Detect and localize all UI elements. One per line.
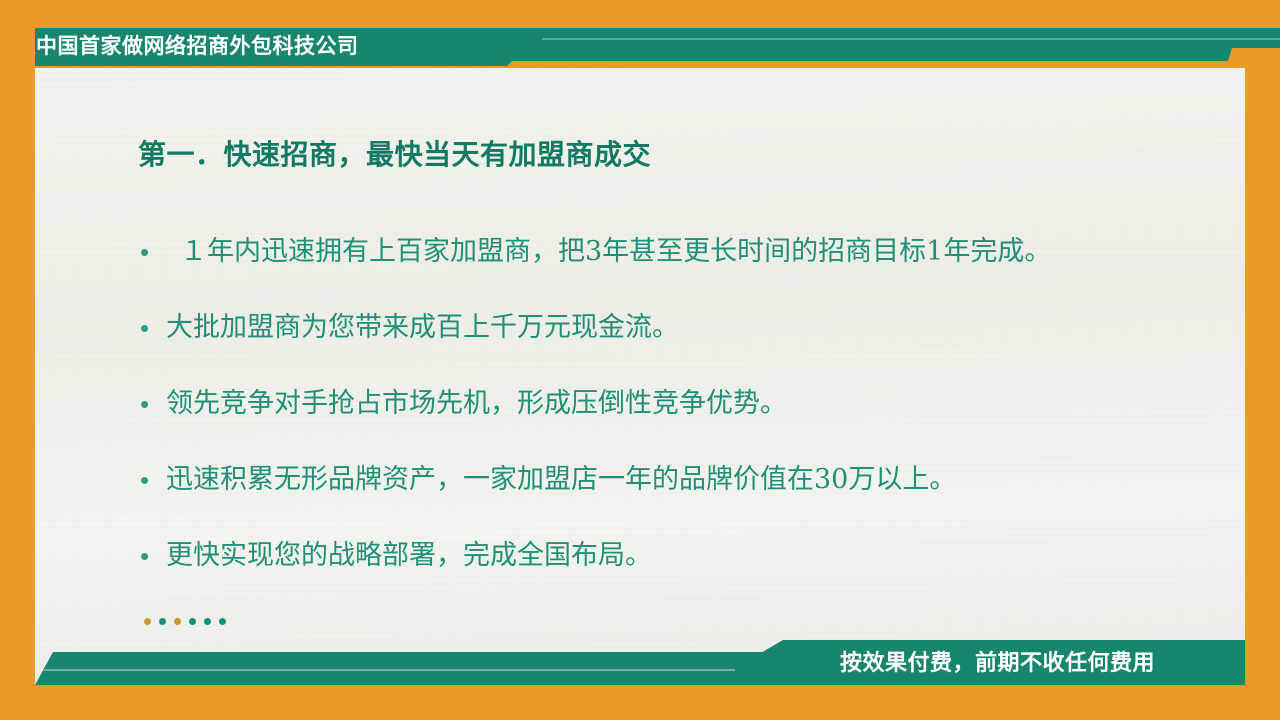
header-title: 中国首家做网络招商外包科技公司: [36, 30, 506, 63]
ellipsis-dot-icon: [144, 618, 151, 625]
list-item-text: 迅速积累无形品牌资产，一家加盟店一年的品牌价值在30万以上。: [166, 460, 1220, 500]
list-item: • 大批加盟商为您带来成百上千万元现金流。: [140, 308, 1220, 384]
bullet-marker-icon: •: [140, 384, 166, 424]
bullet-marker-icon: •: [140, 232, 166, 272]
slide-title: 第一．快速招商，最快当天有加盟商成交: [138, 133, 651, 173]
list-item-text: １年内迅速拥有上百家加盟商，把3年甚至更长时间的招商目标1年完成。: [166, 232, 1220, 272]
list-item-text: 领先竞争对手抢占市场先机，形成压倒性竞争优势。: [166, 384, 1220, 424]
footer-accent-line: [44, 669, 749, 671]
bullet-marker-icon: •: [140, 536, 166, 576]
slide-canvas: 中国首家做网络招商外包科技公司 第一．快速招商，最快当天有加盟商成交 • １年内…: [0, 0, 1280, 720]
footer-tagline: 按效果付费，前期不收任何费用: [840, 648, 1240, 680]
ellipsis-continuation: [144, 618, 226, 625]
ellipsis-dot-icon: [159, 618, 166, 625]
bullet-marker-icon: •: [140, 460, 166, 500]
header-accent-line: [542, 38, 1280, 40]
list-item-text: 大批加盟商为您带来成百上千万元现金流。: [166, 308, 1220, 348]
ellipsis-dot-icon: [174, 618, 181, 625]
ellipsis-dot-icon: [219, 618, 226, 625]
bullet-list: • １年内迅速拥有上百家加盟商，把3年甚至更长时间的招商目标1年完成。 • 大批…: [140, 232, 1220, 612]
bullet-marker-icon: •: [140, 308, 166, 348]
ellipsis-dot-icon: [204, 618, 211, 625]
list-item: • １年内迅速拥有上百家加盟商，把3年甚至更长时间的招商目标1年完成。: [140, 232, 1220, 308]
list-item-text: 更快实现您的战略部署，完成全国布局。: [166, 536, 1220, 576]
ellipsis-dot-icon: [189, 618, 196, 625]
list-item: • 更快实现您的战略部署，完成全国布局。: [140, 536, 1220, 612]
list-item: • 领先竞争对手抢占市场先机，形成压倒性竞争优势。: [140, 384, 1220, 460]
list-item: • 迅速积累无形品牌资产，一家加盟店一年的品牌价值在30万以上。: [140, 460, 1220, 536]
